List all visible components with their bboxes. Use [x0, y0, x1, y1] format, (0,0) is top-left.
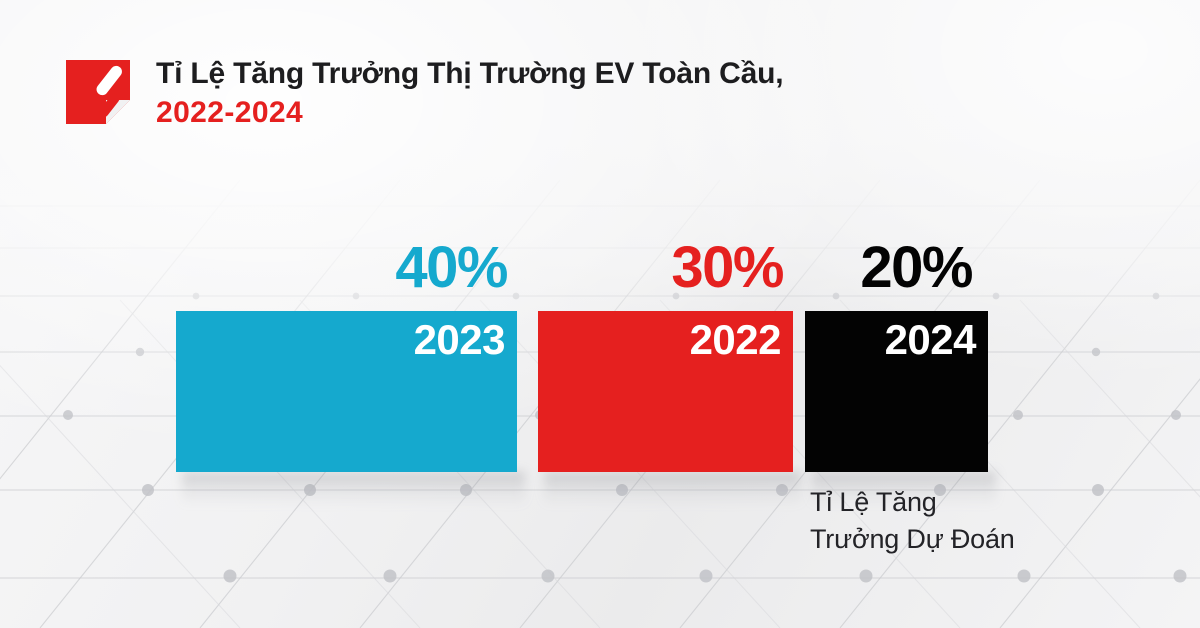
- bar-value-label-2024: 20%: [860, 239, 972, 297]
- bar-chart: 40% 2023 30% 2022 20% 2024 Tỉ Lệ Tăng Tr…: [0, 0, 1200, 628]
- bar-2022[interactable]: 30% 2022: [538, 311, 793, 472]
- bar-value-label-2022: 30%: [671, 239, 783, 297]
- bar-2024[interactable]: 20% 2024: [805, 311, 988, 472]
- bar-year-label-2022: 2022: [690, 319, 781, 361]
- bar-value-label-2023: 40%: [395, 239, 507, 297]
- infographic-canvas: Tỉ Lệ Tăng Trưởng Thị Trường EV Toàn Cầu…: [0, 0, 1200, 628]
- forecast-annotation-line-2: Trưởng Dự Đoán: [810, 521, 1015, 558]
- bar-group-2022: 30% 2022: [538, 311, 793, 472]
- bar-shadow: [182, 472, 525, 506]
- bar-group-2023: 40% 2023: [176, 311, 517, 472]
- forecast-annotation: Tỉ Lệ Tăng Trưởng Dự Đoán: [810, 484, 1015, 559]
- bar-year-label-2024: 2024: [885, 319, 976, 361]
- bar-year-label-2023: 2023: [414, 319, 505, 361]
- bar-2023[interactable]: 40% 2023: [176, 311, 517, 472]
- bar-shadow: [544, 472, 801, 506]
- forecast-annotation-line-1: Tỉ Lệ Tăng: [810, 484, 1015, 521]
- bar-group-2024: 20% 2024: [805, 311, 988, 472]
